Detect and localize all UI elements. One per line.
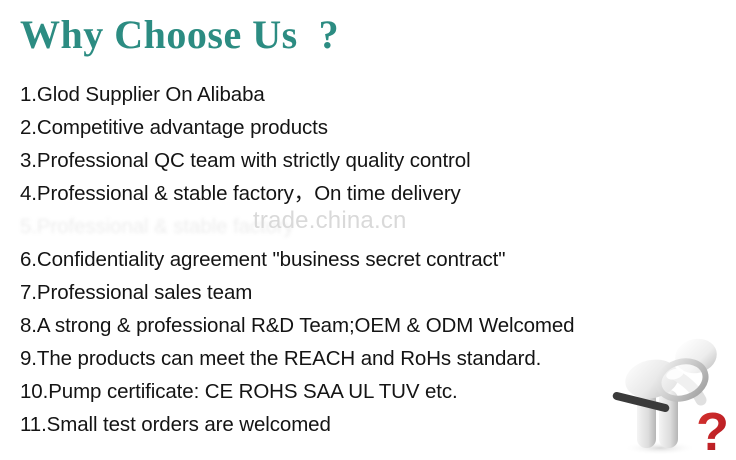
list-item: 6.Confidentiality agreement "business se… [20,243,710,276]
page-title: Why Choose Us ? [20,12,339,58]
list-item: 2.Competitive advantage products [20,111,710,144]
watermark-text: trade.china.cn [253,207,407,235]
illustration-person-with-magnifying-glass: ? [604,332,736,460]
why-choose-us-banner: Why Choose Us ? 1.Glod Supplier On Aliba… [0,0,736,460]
question-mark-icon: ? [696,402,729,460]
list-item: 1.Glod Supplier On Alibaba [20,78,710,111]
list-item: 4.Professional & stable factory，On time … [20,177,710,210]
list-item: 7.Professional sales team [20,276,710,309]
list-item: 3.Professional QC team with strictly qua… [20,144,710,177]
